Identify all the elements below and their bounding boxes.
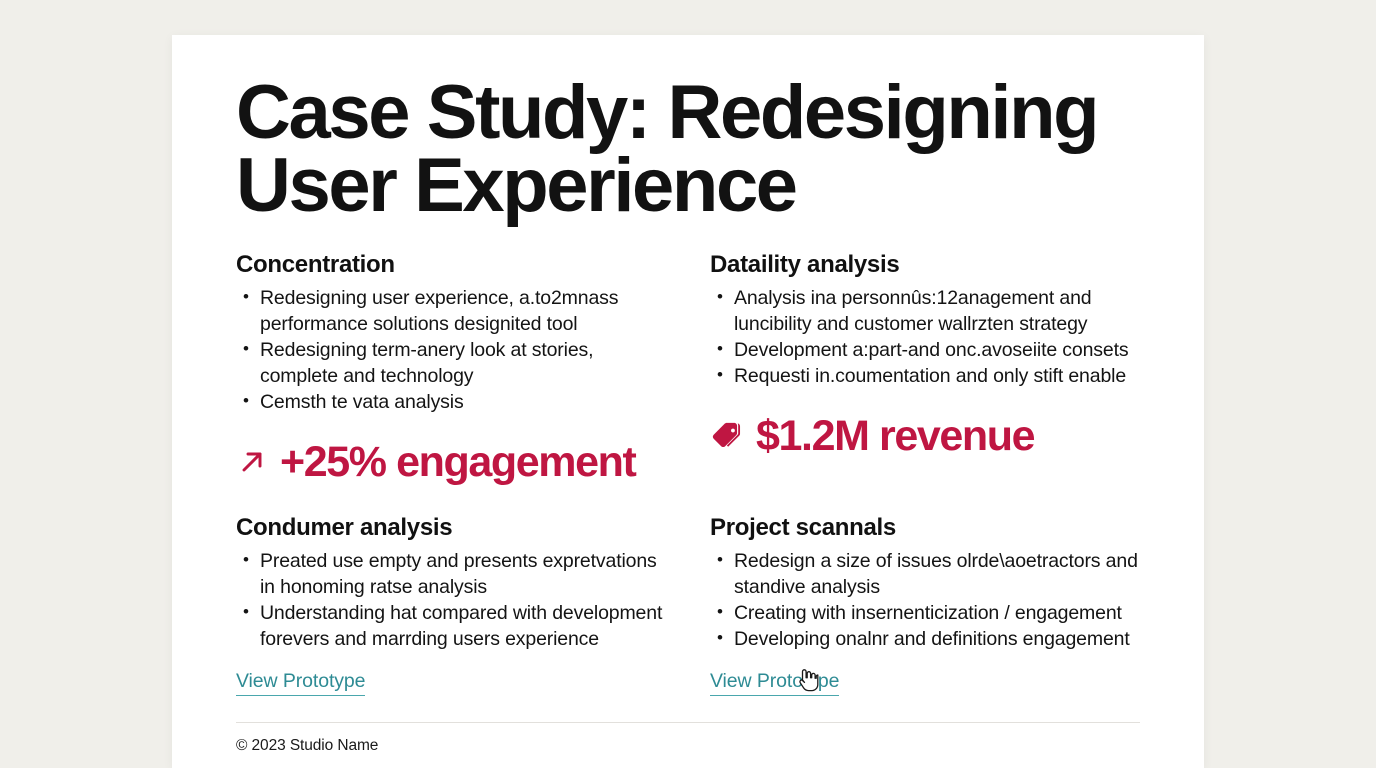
- list-item: Creating with insernenticization / engag…: [734, 600, 1140, 626]
- section-project-scannals: Project scannals Redesign a size of issu…: [710, 514, 1140, 696]
- top-sections-grid: Concentration Redesigning user experienc…: [236, 251, 1140, 492]
- view-prototype-link-left[interactable]: View Prototype: [236, 670, 365, 696]
- metric-value-revenue: $1.2M revenue: [756, 415, 1034, 458]
- section-heading-project-scannals: Project scannals: [710, 514, 1140, 542]
- section-concentration: Concentration Redesigning user experienc…: [236, 251, 666, 492]
- section-heading-dataility-analysis: Dataility analysis: [710, 251, 1140, 279]
- list-item: Requesti in.coumentation and only stift …: [734, 363, 1140, 389]
- bullet-list-dataility-analysis: Analysis ina personnûs:12anagement and l…: [710, 285, 1140, 389]
- list-item: Cemsth te vata analysis: [260, 389, 666, 415]
- footer-divider: [236, 722, 1140, 723]
- price-tag-icon: [710, 419, 744, 453]
- page-title: Case Study: Redesigning User Experience: [236, 63, 1140, 223]
- list-item: Analysis ina personnûs:12anagement and l…: [734, 285, 1140, 337]
- section-heading-concentration: Concentration: [236, 251, 666, 279]
- section-heading-condumer-analysis: Condumer analysis: [236, 514, 666, 542]
- document-card: Case Study: Redesigning User Experience …: [172, 35, 1204, 768]
- section-dataility-analysis: Dataility analysis Analysis ina personnû…: [710, 251, 1140, 492]
- footer-copyright: © 2023 Studio Name: [236, 737, 1140, 755]
- bottom-sections-grid: Condumer analysis Preated use empty and …: [236, 514, 1140, 696]
- bullet-list-condumer-analysis: Preated use empty and presents expretvat…: [236, 548, 666, 652]
- list-item: Developing onalnr and definitions engage…: [734, 626, 1140, 652]
- list-item: Preated use empty and presents expretvat…: [260, 548, 666, 600]
- metric-value-engagement: +25% engagement: [280, 441, 635, 484]
- bullet-list-project-scannals: Redesign a size of issues olrde\aoetract…: [710, 548, 1140, 652]
- list-item: Redesigning user experience, a.to2mnass …: [260, 285, 666, 337]
- list-item: Understanding hat compared with developm…: [260, 600, 666, 652]
- list-item: Redesigning term-anery look at stories, …: [260, 337, 666, 389]
- bullet-list-concentration: Redesigning user experience, a.to2mnass …: [236, 285, 666, 415]
- list-item: Redesign a size of issues olrde\aoetract…: [734, 548, 1140, 600]
- list-item: Development a:part-and onc.avoseiite con…: [734, 337, 1140, 363]
- metric-engagement: +25% engagement: [236, 441, 666, 484]
- arrow-up-right-icon: [236, 446, 268, 478]
- metric-revenue: $1.2M revenue: [710, 415, 1140, 458]
- section-condumer-analysis: Condumer analysis Preated use empty and …: [236, 514, 666, 696]
- view-prototype-link-right[interactable]: View Prototype: [710, 670, 839, 696]
